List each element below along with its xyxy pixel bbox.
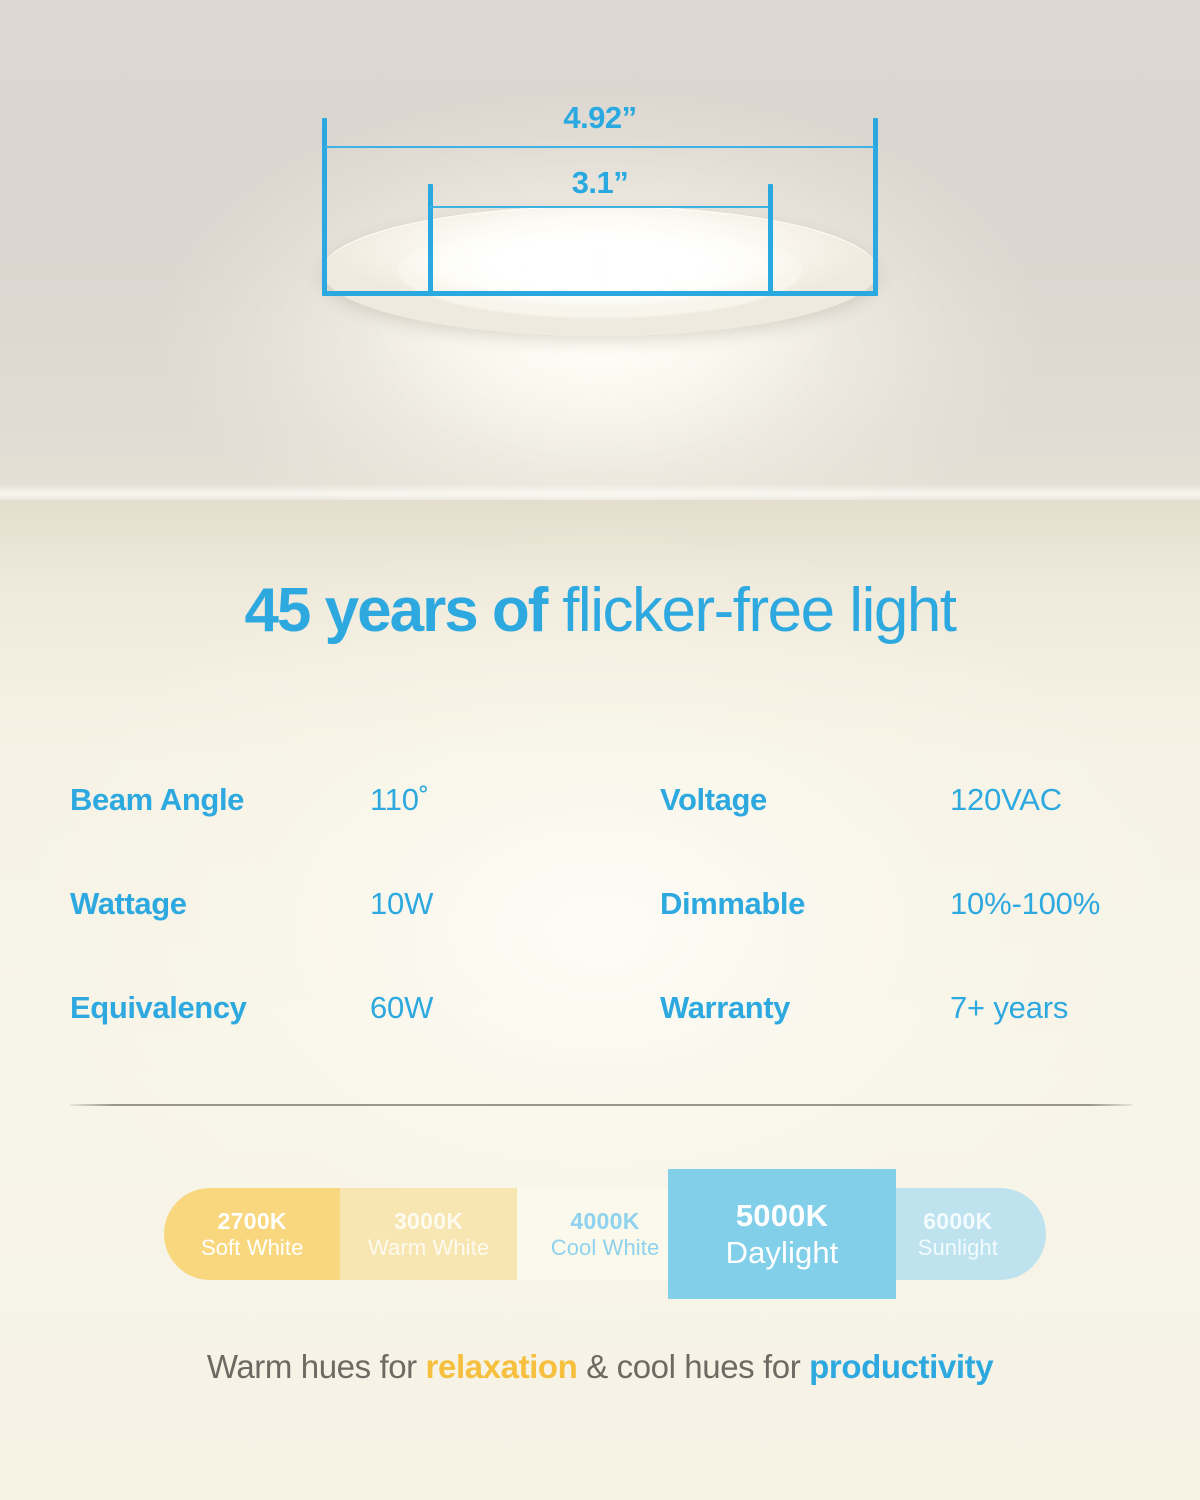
spec-label-warranty: Warranty — [660, 990, 950, 1026]
cct-selected-kelvin: 5000K — [736, 1197, 828, 1234]
cct-selected-name: Daylight — [726, 1234, 839, 1271]
spec-value-warranty: 7+ years — [950, 990, 1135, 1026]
section-divider — [70, 1104, 1132, 1106]
spec-value-beam-angle: 110˚ — [370, 782, 660, 818]
cct-caption: Warm hues for relaxation & cool hues for… — [0, 1348, 1200, 1386]
cct-option-4000k[interactable]: 4000K Cool White — [517, 1188, 693, 1280]
cct-kelvin-6000k: 6000K — [923, 1208, 992, 1235]
spec-label-dimmable: Dimmable — [660, 886, 950, 922]
page-title: 45 years of flicker-free light — [0, 580, 1200, 642]
specification-table: Beam Angle 110˚ Voltage 120VAC Wattage 1… — [70, 782, 1135, 1094]
spec-label-beam-angle: Beam Angle — [70, 782, 370, 818]
inner-dimension-tick-right — [768, 184, 773, 296]
outer-dimension-line — [324, 146, 874, 148]
outer-dimension-tick-right — [873, 118, 878, 296]
cct-option-3000k[interactable]: 3000K Warm White — [340, 1188, 516, 1280]
outer-dimension-tick-left — [322, 118, 327, 296]
spec-value-dimmable: 10%-100% — [950, 886, 1135, 922]
cct-option-2700k[interactable]: 2700K Soft White — [164, 1188, 340, 1280]
outer-diameter-label: 4.92” — [322, 100, 878, 136]
cct-kelvin-3000k: 3000K — [394, 1208, 463, 1235]
inner-dimension-tick-left — [428, 184, 433, 296]
spec-value-wattage: 10W — [370, 886, 660, 922]
cct-selected-chip-5000k[interactable]: 5000K Daylight — [668, 1169, 896, 1299]
spec-label-wattage: Wattage — [70, 886, 370, 922]
caption-relaxation: relaxation — [426, 1348, 578, 1385]
cct-name-6000k: Sunlight — [918, 1235, 998, 1261]
dimension-baseline — [322, 291, 878, 296]
spec-label-equivalency: Equivalency — [70, 990, 370, 1026]
cct-kelvin-4000k: 4000K — [570, 1208, 639, 1235]
dimension-annotations: 4.92” 3.1” — [0, 0, 1200, 500]
cct-name-3000k: Warm White — [368, 1235, 489, 1261]
caption-part1: Warm hues for — [207, 1348, 426, 1385]
inner-dimension-line — [430, 206, 768, 208]
headline-light: flicker-free light — [562, 576, 955, 645]
cct-name-4000k: Cool White — [551, 1235, 660, 1261]
color-temperature-selector: 2700K Soft White 3000K Warm White 4000K … — [164, 1188, 1046, 1280]
color-temperature-bar: 2700K Soft White 3000K Warm White 4000K … — [164, 1188, 1046, 1280]
cct-kelvin-2700k: 2700K — [218, 1208, 287, 1235]
headline-strong: 45 years of — [244, 576, 546, 645]
inner-diameter-label: 3.1” — [428, 165, 772, 201]
product-infographic: 4.92” 3.1” 45 years of flicker-free ligh… — [0, 0, 1200, 1500]
cct-name-2700k: Soft White — [201, 1235, 303, 1261]
spec-value-voltage: 120VAC — [950, 782, 1135, 818]
spec-value-equivalency: 60W — [370, 990, 660, 1026]
caption-part2: & cool hues for — [577, 1348, 809, 1385]
spec-label-voltage: Voltage — [660, 782, 950, 818]
cct-option-6000k[interactable]: 6000K Sunlight — [870, 1188, 1046, 1280]
caption-productivity: productivity — [809, 1348, 993, 1385]
